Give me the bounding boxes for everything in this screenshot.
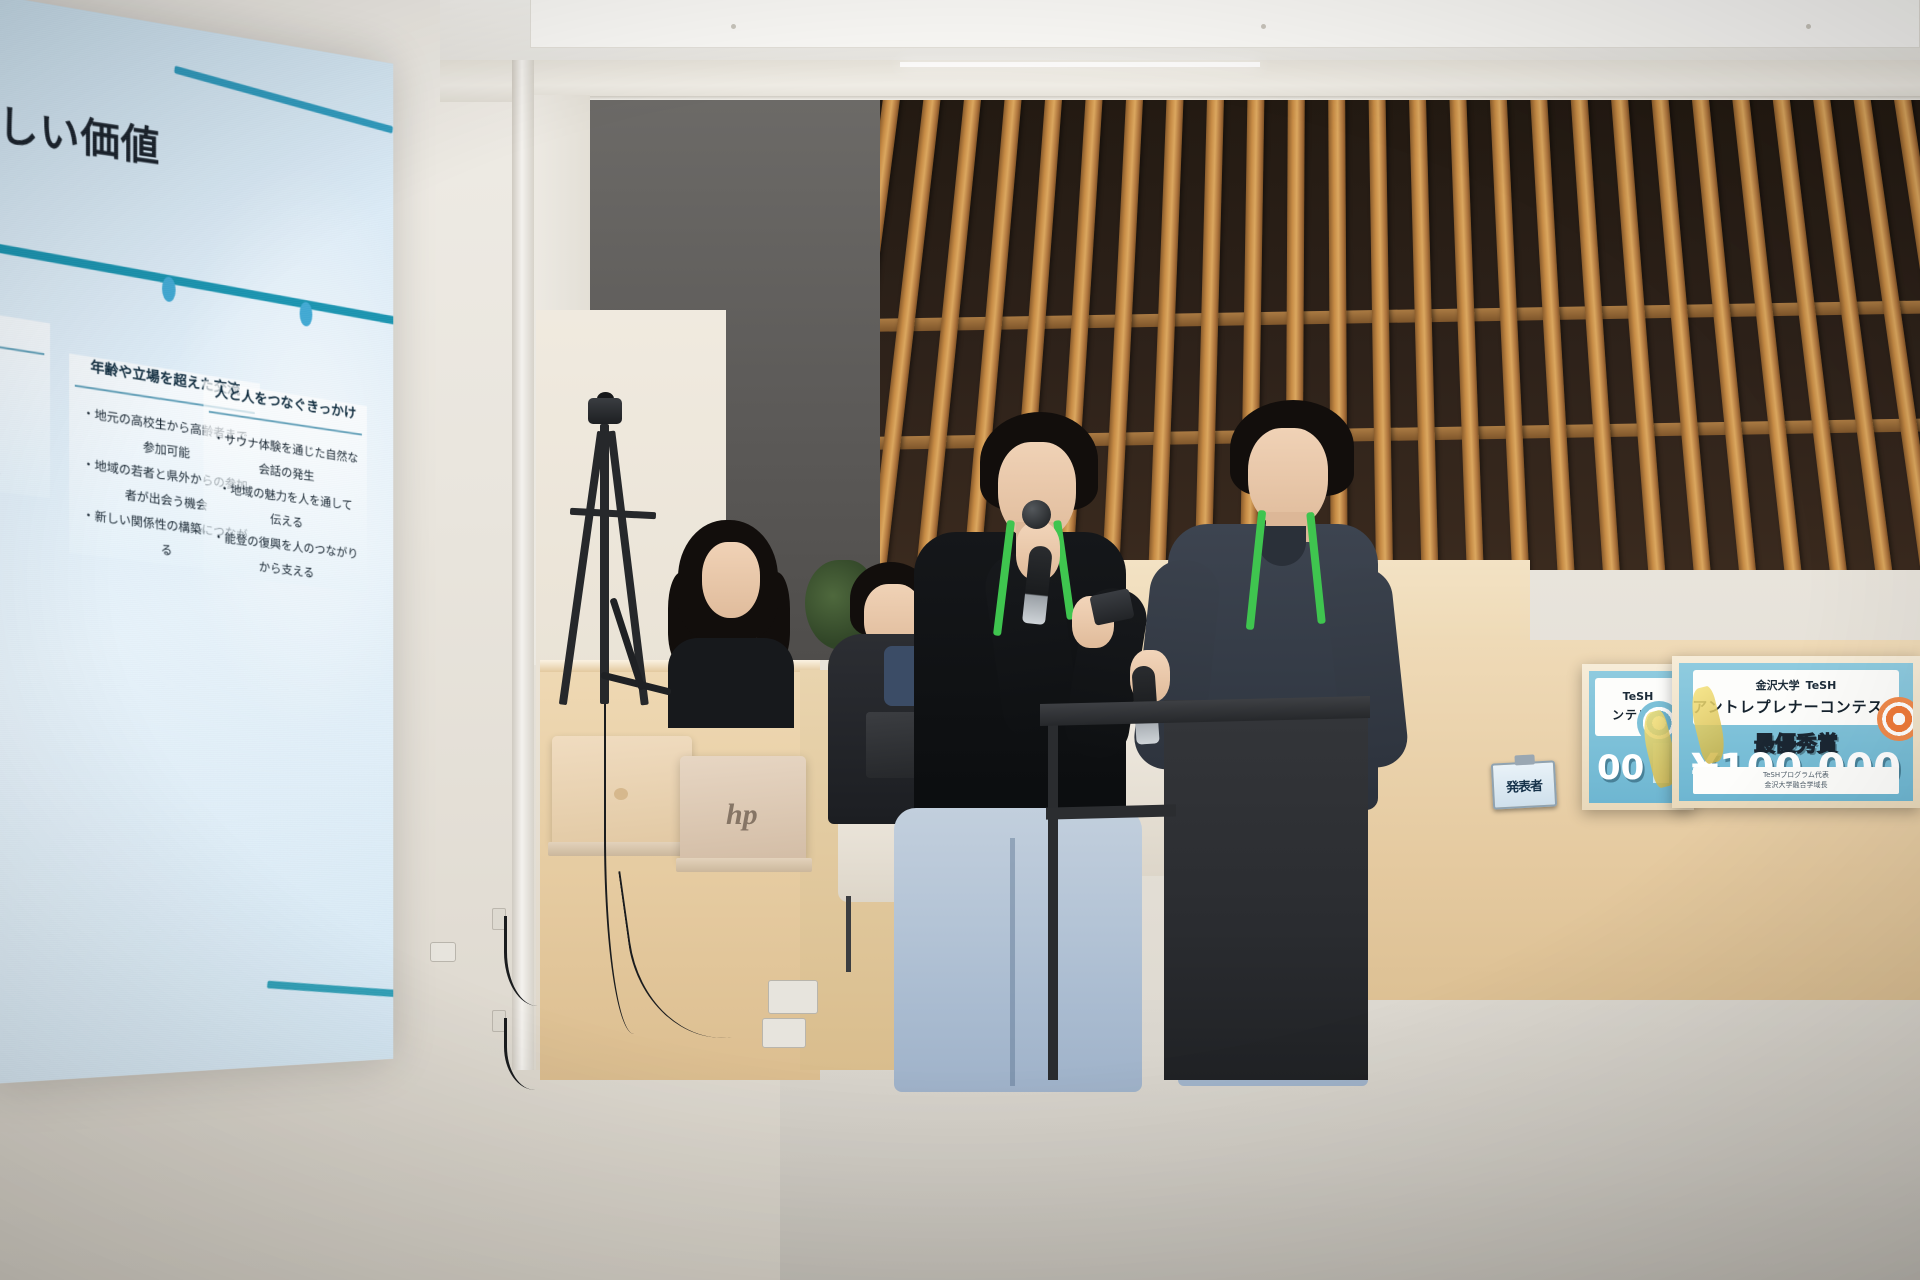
accent-dot — [162, 276, 176, 303]
person-operator — [660, 520, 800, 720]
power-strip[interactable] — [768, 980, 818, 1014]
person-presenter-1 — [898, 412, 1118, 1080]
microphone-head-icon — [1022, 500, 1051, 529]
slide-column-2: 人と人をつなぐきっかけ ・サウナ体験を通じた自然な 会話の発生 ・地域の魅力を人… — [203, 380, 366, 592]
banner-contest-title: アントレプレナーコンテスト — [1692, 696, 1899, 717]
banner2-program: TeSH — [1623, 690, 1654, 703]
program-logo: TeSH — [1806, 679, 1837, 692]
accent-dot — [300, 301, 313, 327]
photo-scene: hp 発表者 — [0, 0, 1920, 1280]
banner-organization-row: 金沢大学 TeSH — [1756, 677, 1837, 693]
badge-presenter-2: 発表者 — [1491, 760, 1557, 809]
power-adapter[interactable] — [762, 1018, 806, 1048]
column-heading: "出会いの — [0, 294, 50, 343]
university-name: 金沢大学 — [1756, 677, 1800, 693]
badge-label: 発表者 — [1506, 775, 1543, 796]
ceiling-light — [900, 62, 1260, 67]
slide-surface: の新しい価値 "出会いの じて自然に れる場 客が対等に る つとして発信 年齢… — [0, 0, 393, 1084]
footer-line-1: TeSHプログラム代表 — [1763, 770, 1829, 780]
projection-screen: の新しい価値 "出会いの じて自然に れる場 客が対等に る つとして発信 年齢… — [0, 0, 440, 1084]
ceiling-band — [530, 0, 1920, 48]
podium — [1164, 700, 1368, 1080]
slide-title: の新しい価値 — [0, 78, 225, 183]
hp-logo: hp — [726, 798, 758, 832]
banner-footer: TeSHプログラム代表 金沢大学融合学域長 — [1693, 767, 1899, 795]
laptop-hp: hp — [680, 756, 806, 860]
camera-tripod — [556, 400, 666, 700]
slide-column-0: "出会いの じて自然に れる場 客が対等に る つとして発信 — [0, 294, 50, 498]
slide-accent-line-bottom — [267, 981, 393, 999]
podium-leg — [1048, 718, 1058, 1080]
award-banner-primary: 金沢大学 TeSH アントレプレナーコンテスト 最優秀賞 ¥100,000 Te… — [1672, 656, 1920, 808]
footer-line-2: 金沢大学融合学域長 — [1764, 780, 1827, 790]
